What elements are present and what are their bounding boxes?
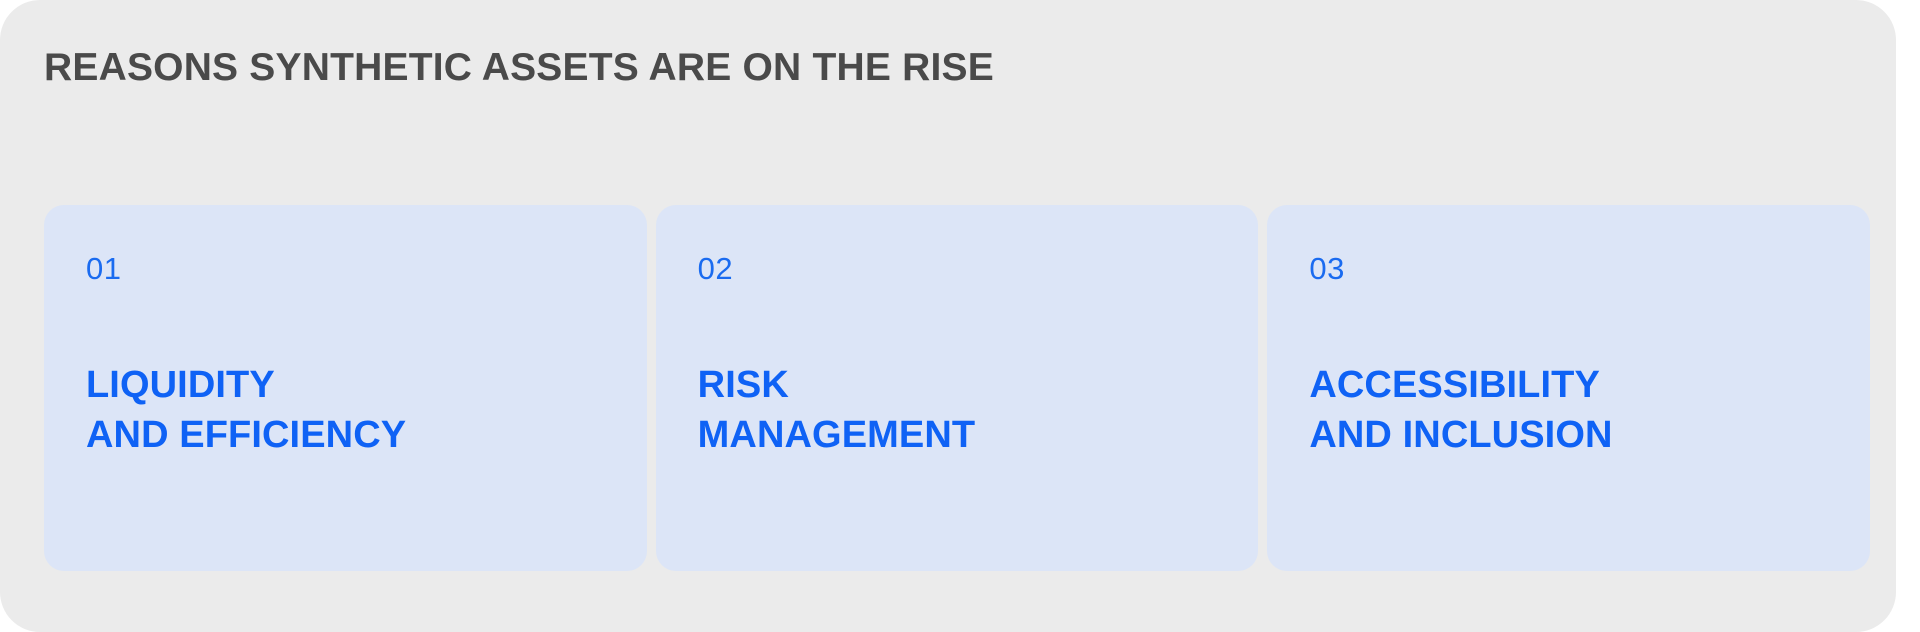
card-heading-02: RISK MANAGEMENT <box>698 360 1237 460</box>
card-number-01: 01 <box>86 253 121 284</box>
reason-card-01[interactable]: 01 LIQUIDITY AND EFFICIENCY <box>44 205 647 571</box>
card-heading-03: ACCESSIBILITY AND INCLUSION <box>1309 360 1848 460</box>
reason-cards-row: 01 LIQUIDITY AND EFFICIENCY 02 RISK MANA… <box>44 205 1870 571</box>
card-number-02: 02 <box>698 253 733 284</box>
reason-card-03[interactable]: 03 ACCESSIBILITY AND INCLUSION <box>1267 205 1870 571</box>
card-number-03: 03 <box>1309 253 1344 284</box>
reason-card-02[interactable]: 02 RISK MANAGEMENT <box>656 205 1259 571</box>
card-heading-01: LIQUIDITY AND EFFICIENCY <box>86 360 625 460</box>
page-title: REASONS SYNTHETIC ASSETS ARE ON THE RISE <box>44 46 994 91</box>
infographic-panel: REASONS SYNTHETIC ASSETS ARE ON THE RISE… <box>0 0 1896 632</box>
